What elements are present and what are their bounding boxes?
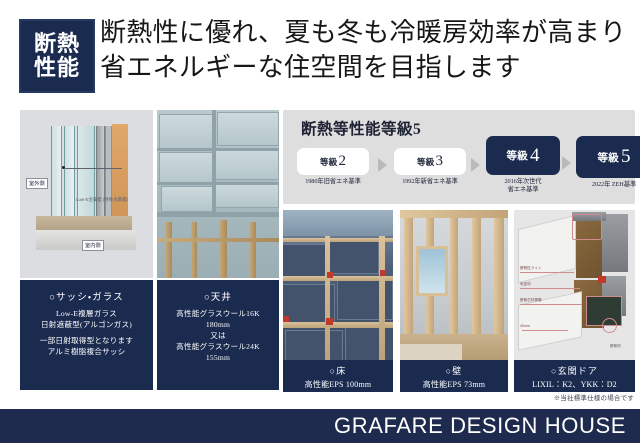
door-caption: ○玄関ドア LIXIL：K2、YKK：D2	[514, 360, 635, 392]
floor-caption: ○床 高性能EPS 100mm	[283, 360, 393, 392]
grade-item-4: 等級 4 2016年次世代 省エネ基準	[481, 136, 565, 194]
badge-line-2: 性能	[34, 56, 80, 80]
grade-2-subtitle: 1980年旧省エネ基準	[291, 178, 375, 186]
title-line-2: 省エネルギーな住空間を目指します	[100, 51, 635, 86]
insulation-badge: 断熱 性能	[19, 19, 95, 93]
diagram-label-inside: 室内側	[82, 240, 104, 251]
door-cross-section-diagram: 断熱性ライン 気密材 断熱芯材積層 40mm 断熱材	[514, 210, 635, 360]
sash-caption-line-4: アルミ樹脂複合サッシ	[48, 346, 126, 357]
grade-5-number: 5	[621, 146, 631, 168]
grade-4-kanji: 等級	[506, 148, 528, 163]
ceiling-caption-heading: ○天井	[204, 289, 232, 303]
door-diagram-label-3: 断熱芯材積層	[520, 298, 542, 303]
grade-5-kanji: 等級	[597, 150, 619, 165]
wall-caption-body: 高性能EPS 73mm	[423, 379, 485, 391]
grade-3-number: 3	[436, 153, 444, 170]
ceiling-caption-line-2: 180mm	[206, 319, 230, 330]
wall-insulation-image	[400, 210, 508, 360]
door-caption-heading: ○玄関ドア	[551, 364, 598, 377]
sash-cross-section-diagram: 室外側 室内側 Low-E金属膜 (特殊金属膜)	[20, 110, 153, 278]
door-diagram-label-5: 断熱材	[610, 344, 621, 349]
page-footer: GRAFARE DESIGN HOUSE	[0, 409, 640, 443]
grade-box-2: 等級 2	[297, 148, 369, 175]
grade-4-subtitle-line-2: 省エネ基準	[508, 186, 539, 193]
ceiling-caption-line-3: 又は	[210, 330, 226, 341]
insulation-spec-page: 断熱 性能 断熱性に優れ、夏も冬も冷暖房効率が高まり 省エネルギーな住空間を目指…	[0, 0, 640, 443]
sash-caption-line-2: 日射遮蔽型(アルゴンガス)	[41, 319, 132, 330]
grade-arrow-2-icon	[471, 158, 480, 172]
page-header: 断熱 性能 断熱性に優れ、夏も冬も冷暖房効率が高まり 省エネルギーな住空間を目指…	[0, 0, 640, 100]
ceiling-caption: ○天井 高性能グラスウール16K 180mm 又は 高性能グラスウール24K 1…	[157, 280, 279, 390]
grade-box-3: 等級 3	[394, 148, 466, 175]
ceiling-photo	[157, 110, 279, 278]
brand-name: GRAFARE DESIGN HOUSE	[334, 413, 626, 439]
insulation-grade-panel: 断熱等性能等級5 等級 2 1980年旧省エネ基準 等級 3 1992年新省エネ…	[283, 110, 635, 204]
badge-line-1: 断熱	[34, 32, 80, 56]
grade-5-subtitle: 2022年 ZEH基準	[571, 181, 640, 189]
sash-caption-heading: ○サッシ・ガラス	[49, 289, 124, 303]
grade-4-subtitle-line-1: 2016年次世代	[505, 178, 542, 185]
grade-item-2: 等級 2 1980年旧省エネ基準	[291, 148, 375, 186]
door-caption-body: LIXIL：K2、YKK：D2	[532, 379, 617, 391]
door-diagram-label-2: 気密材	[520, 282, 531, 287]
grade-2-number: 2	[339, 153, 347, 170]
sash-caption-line-3: 一部日射取得型となります	[40, 335, 133, 346]
floor-insulation-image	[283, 210, 393, 360]
sash-glass-caption: ○サッシ・ガラス Low-E複層ガラス 日射遮蔽型(アルゴンガス) 一部日射取得…	[20, 280, 153, 390]
diagram-label-coating: Low-E金属膜 (特殊金属膜)	[74, 196, 130, 204]
ceiling-caption-line-1: 高性能グラスウール16K	[176, 308, 260, 319]
ceiling-caption-line-4: 高性能グラスウール24K	[176, 341, 260, 352]
sash-caption-line-1: Low-E複層ガラス	[56, 308, 117, 319]
grade-box-5: 等級 5	[576, 136, 640, 178]
floor-photo	[283, 210, 393, 360]
grade-item-5: 等級 5 2022年 ZEH基準	[571, 136, 640, 189]
grade-3-subtitle: 1992年新省エネ基準	[388, 178, 472, 186]
grade-4-subtitle: 2016年次世代 省エネ基準	[481, 178, 565, 194]
grade-4-number: 4	[530, 145, 540, 167]
wall-caption: ○壁 高性能EPS 73mm	[400, 360, 508, 392]
sash-glass-photo: 室外側 室内側 Low-E金属膜 (特殊金属膜)	[20, 110, 153, 278]
wall-photo	[400, 210, 508, 360]
grade-2-kanji: 等級	[320, 156, 338, 168]
grade-arrow-1-icon	[378, 158, 387, 172]
floor-caption-heading: ○床	[330, 364, 347, 377]
door-photo: 断熱性ライン 気密材 断熱芯材積層 40mm 断熱材	[514, 210, 635, 360]
wall-caption-heading: ○壁	[446, 364, 463, 377]
floor-caption-body: 高性能EPS 100mm	[305, 379, 372, 391]
page-title: 断熱性に優れ、夏も冬も冷暖房効率が高まり 省エネルギーな住空間を目指します	[100, 16, 635, 86]
title-line-1: 断熱性に優れ、夏も冬も冷暖房効率が高まり	[100, 18, 626, 47]
grade-arrow-3-icon	[562, 156, 571, 170]
ceiling-caption-line-5: 155mm	[206, 352, 230, 363]
grade-box-4: 等級 4	[486, 136, 560, 175]
door-diagram-label-4: 40mm	[520, 324, 530, 328]
standard-spec-note: ※当社標準仕様の場合です	[554, 392, 634, 402]
diagram-label-outside: 室外側	[26, 178, 48, 189]
grade-item-3: 等級 3 1992年新省エネ基準	[388, 148, 472, 186]
ceiling-insulation-image	[157, 110, 279, 278]
grade-panel-title: 断熱等性能等級5	[301, 117, 421, 139]
grade-3-kanji: 等級	[417, 156, 435, 168]
door-diagram-label-1: 断熱性ライン	[520, 266, 542, 271]
